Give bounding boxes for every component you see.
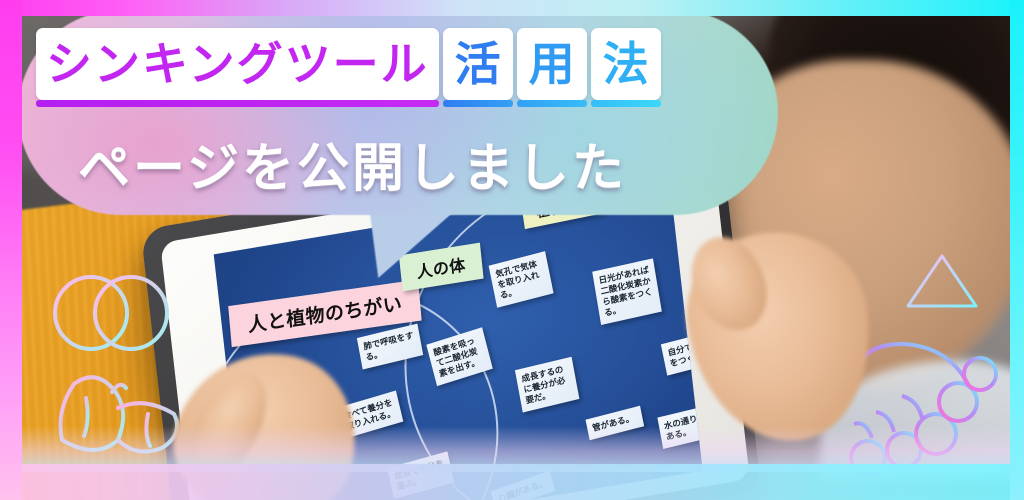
- title-row: シンキングツール 活 用 法: [36, 28, 661, 100]
- banner-image: 人と植物のちがい 人の体 植物の体 肺で呼吸をする。 食べて養分を取り入れる。 …: [0, 0, 1024, 500]
- title-box-you: 用: [517, 28, 587, 100]
- title-box-hou: 法: [591, 28, 661, 100]
- title-box-katsu: 活: [443, 28, 513, 100]
- page-subtitle: ページを公開しました: [78, 126, 627, 201]
- title-box-thinking-tool: シンキングツール: [36, 28, 439, 100]
